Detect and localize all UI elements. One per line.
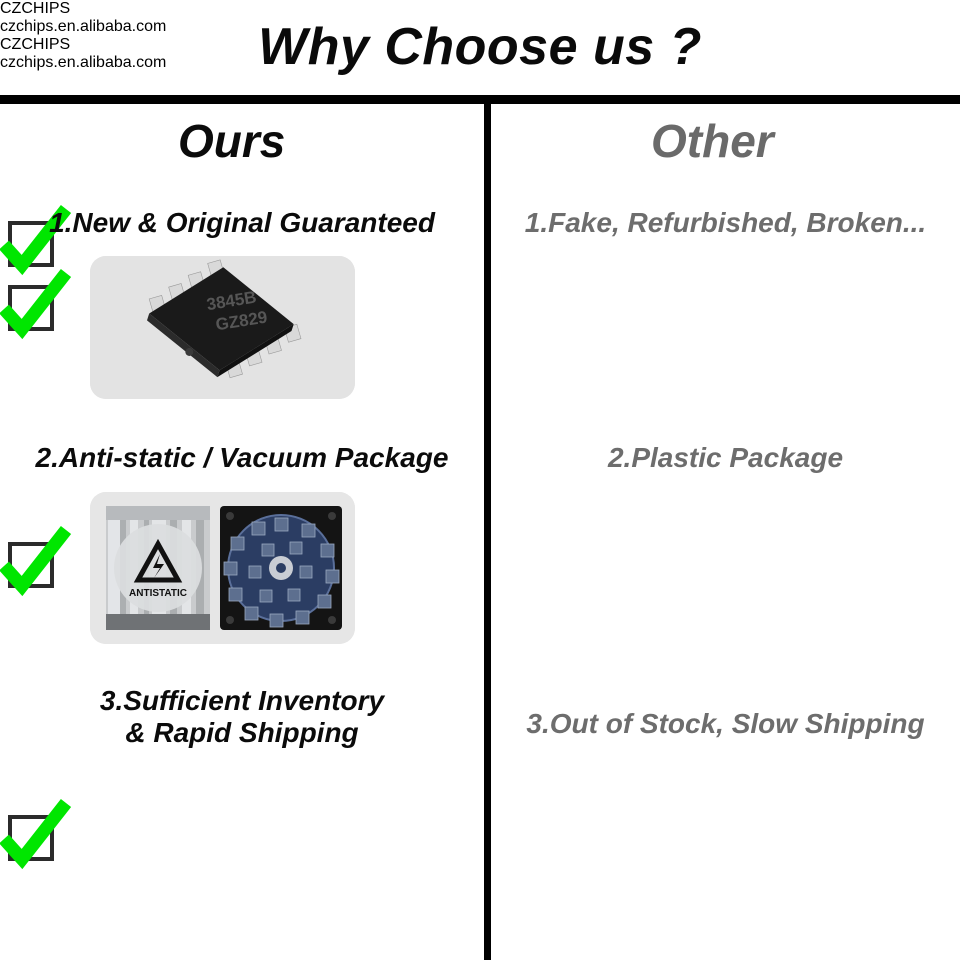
column-label-ours: Ours	[178, 118, 285, 164]
row-3-other-cell: 3.Out of Stock, Slow Shipping	[491, 675, 960, 960]
comparison-row-1: 1.New & Original Guaranteed	[0, 180, 960, 420]
row-2-ours-cell: 2.Anti-static / Vacuum Package	[0, 420, 484, 675]
row-2-ours-title: 2.Anti-static / Vacuum Package	[0, 442, 484, 474]
check-glyph	[0, 797, 74, 879]
page-title: Why Choose us ?	[258, 21, 702, 73]
check-glyph	[0, 524, 74, 606]
column-header-ours: Ours	[0, 104, 484, 180]
row-2-other-cell: 2.Plastic Package	[491, 420, 960, 675]
row-1-other-title: 1.Fake, Refurbished, Broken...	[491, 207, 960, 239]
ic-chip-photo: 3845B GZ829	[90, 256, 355, 399]
row-1-ours-cell: 1.New & Original Guaranteed	[0, 180, 484, 420]
row-1-ours-title: 1.New & Original Guaranteed	[0, 207, 484, 239]
check-icon	[8, 285, 54, 331]
row-3-ours-cell: 3.Sufficient Inventory & Rapid Shipping	[0, 675, 484, 960]
row-2-other-title: 2.Plastic Package	[491, 442, 960, 474]
check-glyph	[0, 267, 74, 349]
check-icon	[8, 815, 54, 861]
check-icon	[8, 542, 54, 588]
column-header-other: Other	[491, 104, 960, 180]
row-3-other-title: 3.Out of Stock, Slow Shipping	[491, 708, 960, 740]
antistatic-bag-illustration: ANTISTATIC	[90, 492, 355, 644]
comparison-row-3: 3.Sufficient Inventory & Rapid Shipping	[0, 675, 960, 960]
header-divider-horizontal	[0, 95, 960, 104]
comparison-row-2: 2.Anti-static / Vacuum Package	[0, 420, 960, 675]
column-label-other: Other	[651, 118, 774, 164]
ic-chip-illustration: 3845B GZ829	[90, 256, 355, 399]
row-1-other-cell: 1.Fake, Refurbished, Broken...	[491, 180, 960, 420]
row-3-ours-title: 3.Sufficient Inventory & Rapid Shipping	[0, 685, 484, 749]
svg-text:ANTISTATIC: ANTISTATIC	[129, 588, 187, 599]
page-header: Why Choose us ?	[0, 0, 960, 93]
antistatic-bag-photo: ANTISTATIC	[90, 492, 355, 644]
